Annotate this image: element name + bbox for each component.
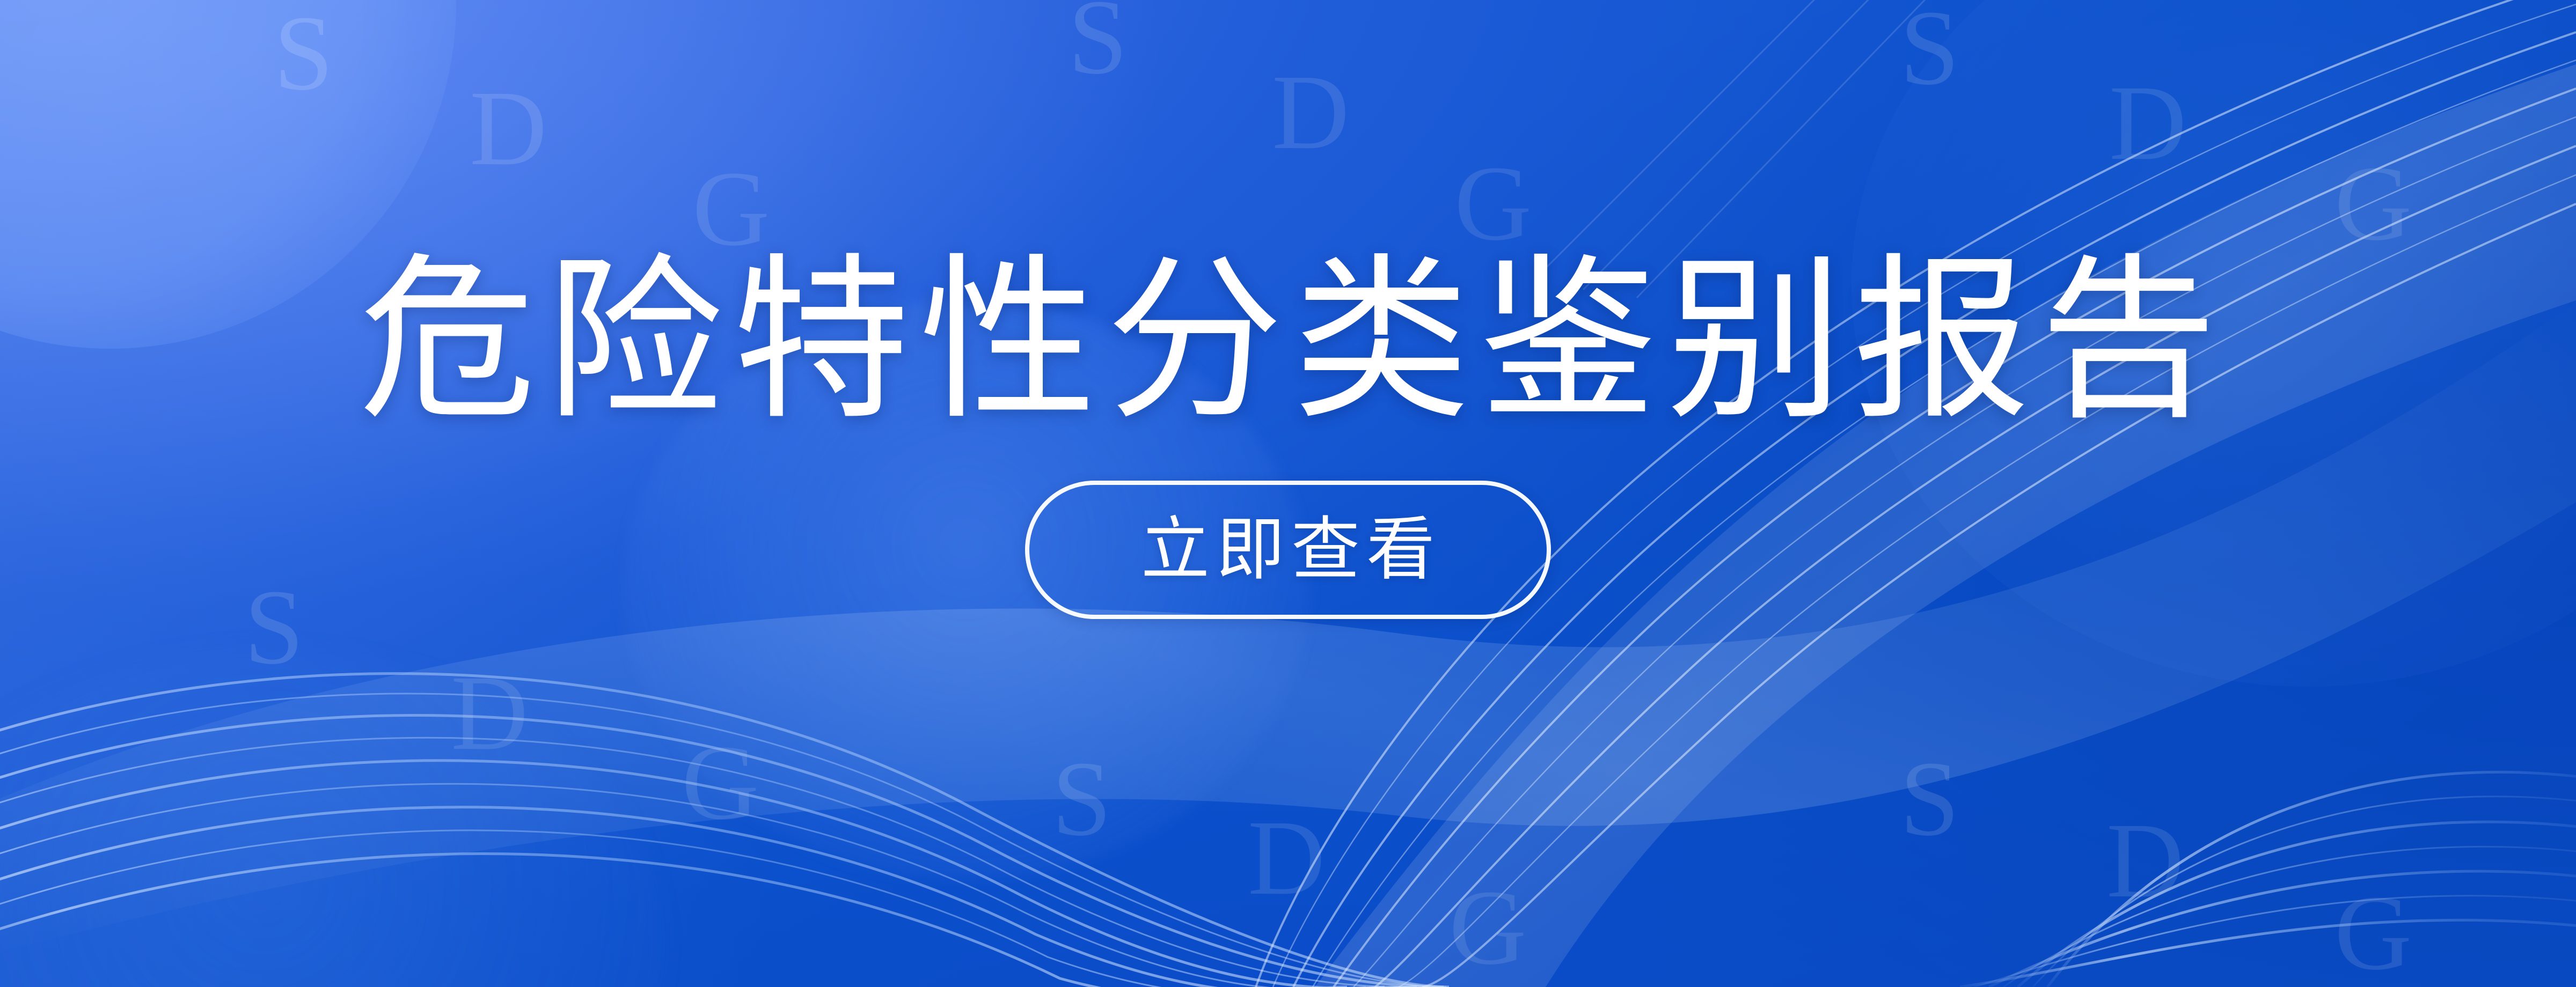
view-now-button[interactable]: 立即查看 bbox=[1025, 481, 1551, 619]
view-now-button-label: 立即查看 bbox=[1135, 515, 1441, 584]
banner-content: 危险特性分类鉴别报告 立即查看 bbox=[0, 0, 2576, 987]
page-title: 危险特性分类鉴别报告 bbox=[349, 252, 2227, 429]
hazard-report-banner: SDGSDGSDGSDGSDGSDG bbox=[0, 0, 2576, 987]
